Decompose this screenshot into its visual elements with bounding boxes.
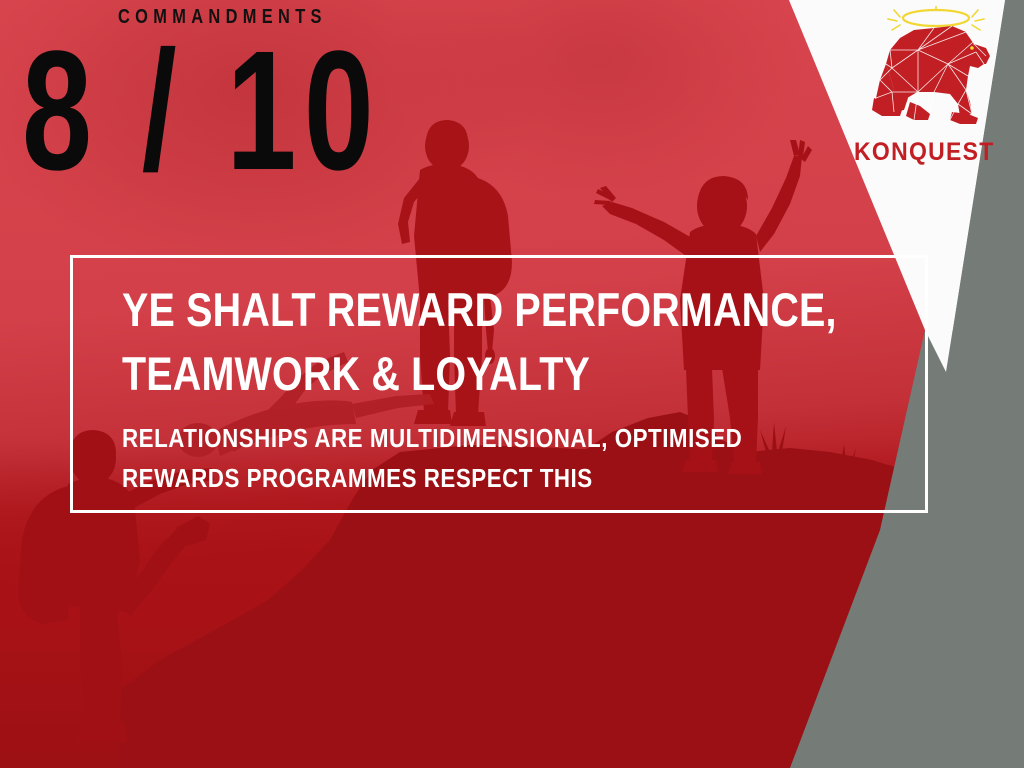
logo-wordmark: KONQUEST	[854, 138, 992, 167]
slide-canvas: COMMANDMENTS 8 / 10 YE SHALT REWARD PERF…	[0, 0, 1024, 768]
gorilla-logo-icon	[848, 6, 998, 136]
subline-line-2: REWARDS PROGRAMMES RESPECT THIS	[122, 458, 793, 498]
subline-line-1: RELATIONSHIPS ARE MULTIDIMENSIONAL, OPTI…	[122, 418, 793, 458]
gorilla-eye	[970, 46, 974, 50]
halo-icon	[903, 10, 969, 26]
brand-logo[interactable]: KONQUEST	[848, 6, 998, 167]
headline-line-2: TEAMWORK & LOYALTY	[122, 342, 777, 406]
message-content: YE SHALT REWARD PERFORMANCE, TEAMWORK & …	[122, 278, 902, 498]
headline-line-1: YE SHALT REWARD PERFORMANCE,	[122, 278, 777, 342]
page-counter: 8 / 10	[22, 26, 381, 196]
